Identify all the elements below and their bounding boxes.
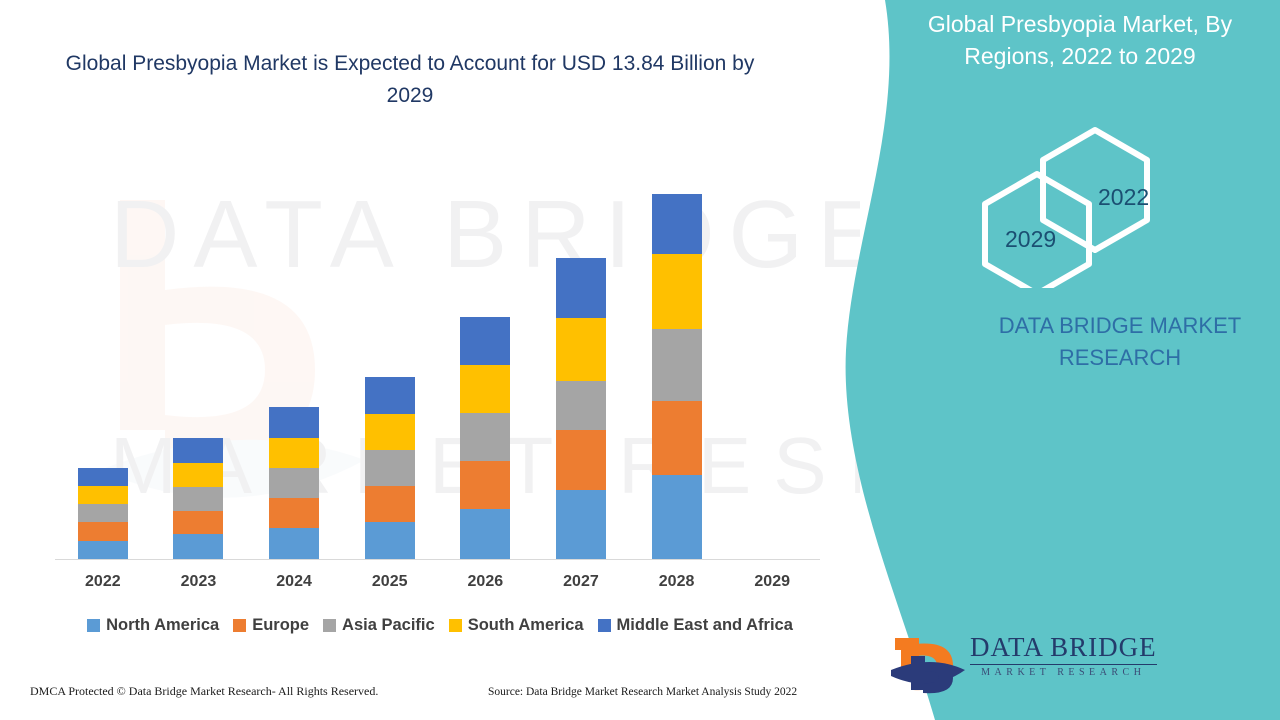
bar-column-2029 [724, 150, 820, 559]
bar-segment [556, 258, 606, 318]
bar-segment [652, 254, 702, 328]
bar-column-2026 [438, 150, 534, 559]
bar-segment [365, 486, 415, 522]
bar-segment [460, 509, 510, 559]
panel-brand-line-2: RESEARCH [960, 342, 1280, 374]
bar-segment [365, 522, 415, 559]
bar-segment [78, 504, 128, 522]
bar-stack [460, 317, 510, 559]
x-axis-label-2028: 2028 [629, 573, 725, 591]
bar-segment [173, 534, 223, 559]
bar-stack [269, 407, 319, 559]
logo-sub-text: MARKET RESEARCH [970, 667, 1157, 678]
chart-legend: North AmericaEuropeAsia PacificSouth Ame… [55, 616, 825, 635]
bar-segment [556, 490, 606, 559]
x-axis-labels: 20222023202420252026202720282029 [55, 573, 820, 591]
bar-chart-plot [55, 150, 820, 559]
legend-label: Europe [252, 616, 309, 635]
bar-segment [652, 329, 702, 401]
panel-brand-text: DATA BRIDGE MARKET RESEARCH [960, 310, 1280, 374]
logo-mark-icon [885, 630, 975, 696]
bar-segment [556, 318, 606, 381]
bar-segment [556, 430, 606, 490]
bar-segment [173, 487, 223, 511]
panel-brand-line-1: DATA BRIDGE MARKET [960, 310, 1280, 342]
x-axis-label-2025: 2025 [342, 573, 438, 591]
footer-copyright: DMCA Protected © Data Bridge Market Rese… [30, 684, 378, 699]
bar-stack [78, 468, 128, 559]
bar-segment [78, 486, 128, 504]
bar-segment [556, 381, 606, 431]
infographic-canvas: DATA BRIDGE MARKET RESEARCH Global Presb… [0, 0, 1280, 720]
chart-title: Global Presbyopia Market is Expected to … [40, 48, 780, 112]
bar-segment [460, 413, 510, 461]
bar-segment [460, 317, 510, 365]
x-axis-label-2026: 2026 [438, 573, 534, 591]
hexagon-badges: 2022 2029 [975, 118, 1195, 288]
legend-item[interactable]: Asia Pacific [323, 616, 435, 635]
bar-column-2023 [151, 150, 247, 559]
legend-label: North America [106, 616, 219, 635]
bar-column-2025 [342, 150, 438, 559]
bar-stack [652, 194, 702, 559]
bar-stack [365, 377, 415, 559]
legend-swatch-icon [323, 619, 336, 632]
bar-segment [78, 541, 128, 559]
x-axis-label-2023: 2023 [151, 573, 247, 591]
bar-segment [652, 475, 702, 559]
bar-stack [556, 258, 606, 559]
bar-segment [365, 450, 415, 486]
legend-item[interactable]: South America [449, 616, 584, 635]
bar-stack [173, 438, 223, 559]
x-axis-label-2029: 2029 [724, 573, 820, 591]
legend-swatch-icon [87, 619, 100, 632]
bar-segment [269, 407, 319, 437]
legend-swatch-icon [449, 619, 462, 632]
legend-label: Middle East and Africa [617, 616, 793, 635]
legend-swatch-icon [233, 619, 246, 632]
legend-item[interactable]: Europe [233, 616, 309, 635]
hexagon-label-end-year: 2029 [1005, 226, 1056, 253]
bar-segment [269, 528, 319, 559]
bar-segment [652, 401, 702, 474]
bar-column-2027 [533, 150, 629, 559]
hexagon-label-start-year: 2022 [1098, 184, 1149, 211]
legend-item[interactable]: North America [87, 616, 219, 635]
legend-label: Asia Pacific [342, 616, 435, 635]
legend-label: South America [468, 616, 584, 635]
x-axis-line [55, 559, 820, 560]
bar-column-2022 [55, 150, 151, 559]
bar-segment [269, 438, 319, 468]
bar-column-2024 [246, 150, 342, 559]
data-bridge-logo: DATA BRIDGE MARKET RESEARCH [885, 630, 1245, 700]
bar-segment [365, 377, 415, 413]
legend-item[interactable]: Middle East and Africa [598, 616, 793, 635]
bar-segment [173, 438, 223, 463]
logo-divider [970, 664, 1157, 665]
x-axis-label-2027: 2027 [533, 573, 629, 591]
bar-segment [173, 511, 223, 535]
bar-segment [78, 522, 128, 540]
bar-segment [78, 468, 128, 486]
bar-segment [460, 461, 510, 509]
bar-segment [652, 194, 702, 254]
panel-title: Global Presbyopia Market, By Regions, 20… [905, 8, 1255, 72]
x-axis-label-2022: 2022 [55, 573, 151, 591]
bar-segment [173, 463, 223, 487]
x-axis-label-2024: 2024 [246, 573, 342, 591]
bar-segment [365, 414, 415, 451]
footer-source: Source: Data Bridge Market Research Mark… [488, 686, 797, 698]
bar-segment [460, 365, 510, 413]
bar-segment [269, 468, 319, 498]
bar-column-2028 [629, 150, 725, 559]
logo-main-text: DATA BRIDGE [970, 632, 1157, 663]
legend-swatch-icon [598, 619, 611, 632]
bar-segment [269, 498, 319, 528]
